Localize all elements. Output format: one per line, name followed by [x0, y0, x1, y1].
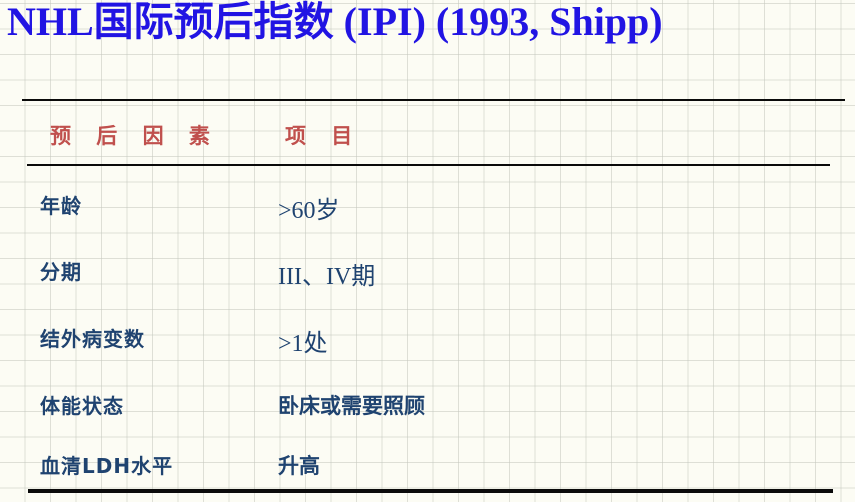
slide-canvas: NHL国际预后指数 (IPI) (1993, Shipp) 预 后 因 素 项 … — [0, 0, 855, 502]
column-header-item: 项 目 — [285, 120, 361, 150]
table-row-label: 分期 — [40, 256, 82, 285]
table-row-label: 年龄 — [40, 190, 82, 219]
table-row-value: >1处 — [278, 323, 328, 358]
table-row-label: 结外病变数 — [40, 323, 145, 352]
table-row-label: 体能状态 — [40, 390, 124, 419]
column-header-factor: 预 后 因 素 — [50, 120, 219, 150]
table-row-label: 血清LDH水平 — [40, 450, 173, 479]
table-row-value: III、IV期 — [278, 256, 375, 291]
table-row-value: >60岁 — [278, 190, 340, 225]
table-row-value: 升高 — [278, 450, 320, 480]
prognostic-factors-table: 预 后 因 素 项 目 年龄 >60岁 分期 III、IV期 结外病变数 >1处… — [0, 0, 855, 502]
table-row-value: 卧床或需要照顾 — [278, 390, 425, 420]
